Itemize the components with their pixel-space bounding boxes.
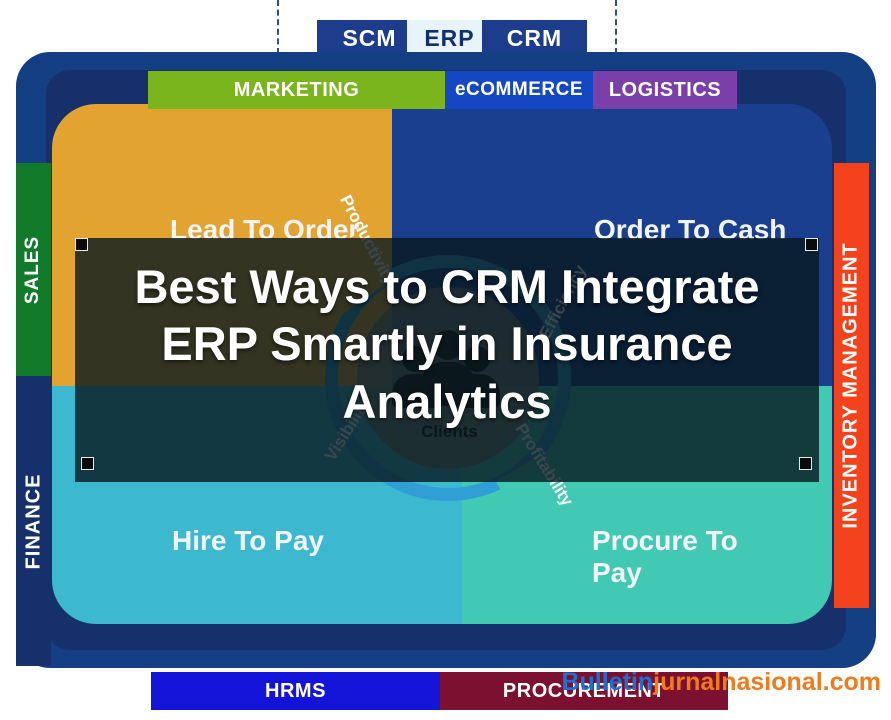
label-logistics: LOGISTICS [593,71,737,109]
label-finance: FINANCE [16,376,51,666]
watermark-prefix: Bulletin [561,668,653,696]
diagram-canvas: SCM ERP CRM Lead To Order Order To Cash … [0,0,891,720]
resize-handle-bottom-left[interactable] [81,457,94,470]
page-title: Best Ways to CRM Integrate ERP Smartly i… [95,258,799,430]
watermark: Bulletinjurnalnasional.com [561,668,881,697]
label-marketing: MARKETING [148,71,445,109]
quadrant-label-procure-to-pay: Procure To Pay [592,525,792,589]
watermark-suffix: jurnalnasional.com [653,668,881,696]
resize-handle-top-right[interactable] [805,238,818,251]
top-system-strip: SCM ERP CRM [277,0,617,58]
segment-crm: CRM [482,20,587,56]
label-sales: SALES [16,163,51,376]
label-finance-text: FINANCE [22,473,45,569]
segment-erp: ERP [407,20,492,56]
label-inventory-text: INVENTORY MANAGEMENT [840,242,863,528]
label-sales-text: SALES [23,235,45,303]
resize-handle-bottom-right[interactable] [799,457,812,470]
quadrant-label-hire-to-pay: Hire To Pay [172,525,422,557]
label-inventory-management: INVENTORY MANAGEMENT [834,163,869,608]
label-hrms: HRMS [151,672,440,710]
resize-handle-top-left[interactable] [75,238,88,251]
label-ecommerce: eCOMMERCE [445,71,593,109]
